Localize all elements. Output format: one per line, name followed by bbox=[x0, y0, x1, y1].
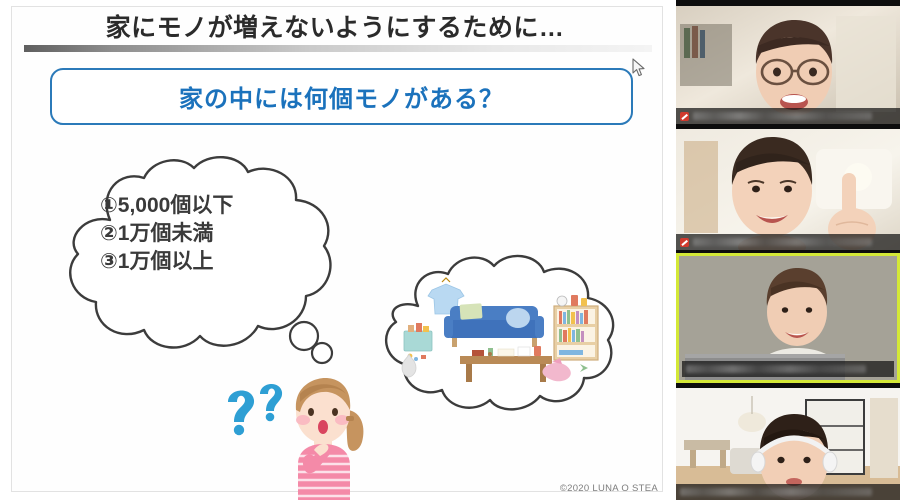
thinking-woman-illustration bbox=[270, 372, 380, 500]
clothes-pile-icon bbox=[542, 363, 570, 381]
video-tile-participant-1[interactable] bbox=[676, 6, 900, 124]
option-item-2: ②1万個未満 bbox=[100, 220, 330, 248]
screen-share-window: 家にモノが増えないようにするために… 家の中には何個モノがある？ ①5,000個… bbox=[0, 0, 900, 500]
participant-2-name-label bbox=[693, 238, 872, 246]
thought-bubble-right bbox=[370, 248, 635, 413]
mic-muted-icon bbox=[680, 112, 689, 121]
mouse-pointer-icon bbox=[632, 58, 646, 78]
bag-icon bbox=[402, 354, 416, 377]
answer-options-list: ①5,000個以下 ②1万個未満 ③1万個以上 bbox=[100, 192, 330, 276]
participant-4-name-bar bbox=[676, 484, 900, 500]
participant-2-name-bar bbox=[676, 234, 900, 250]
participant-3-name-label bbox=[686, 365, 866, 373]
question-box-text: 家の中には何個モノがある？ bbox=[179, 79, 504, 114]
participants-video-panel bbox=[676, 0, 900, 500]
option-item-3: ③1万個以上 bbox=[100, 248, 330, 276]
mic-muted-icon bbox=[680, 238, 689, 247]
wooden-coffee-table-icon bbox=[460, 346, 552, 382]
participant-1-name-label bbox=[693, 112, 872, 120]
bookshelf-icon bbox=[554, 295, 598, 360]
blue-sofa-icon bbox=[444, 303, 544, 347]
participant-1-video-feed bbox=[676, 6, 900, 124]
video-tile-participant-4[interactable] bbox=[676, 388, 900, 500]
video-tile-participant-3[interactable] bbox=[676, 253, 900, 383]
presentation-slide[interactable]: 家にモノが増えないようにするために… 家の中には何個モノがある？ ①5,000個… bbox=[0, 0, 676, 500]
participant-4-name-label bbox=[680, 488, 872, 496]
living-room-illustration bbox=[394, 276, 606, 388]
title-divider bbox=[24, 45, 652, 52]
slide-title: 家にモノが増えないようにするために… bbox=[20, 8, 650, 44]
video-tile-participant-2[interactable] bbox=[676, 129, 900, 250]
participant-1-name-bar bbox=[676, 108, 900, 124]
copyright-text: ©2020 LUNA O STEA bbox=[560, 483, 658, 494]
option-item-1: ①5,000個以下 bbox=[100, 192, 330, 220]
participant-2-video-feed bbox=[676, 129, 900, 250]
participant-3-name-bar bbox=[682, 361, 894, 377]
question-box: 家の中には何個モノがある？ bbox=[50, 68, 633, 125]
